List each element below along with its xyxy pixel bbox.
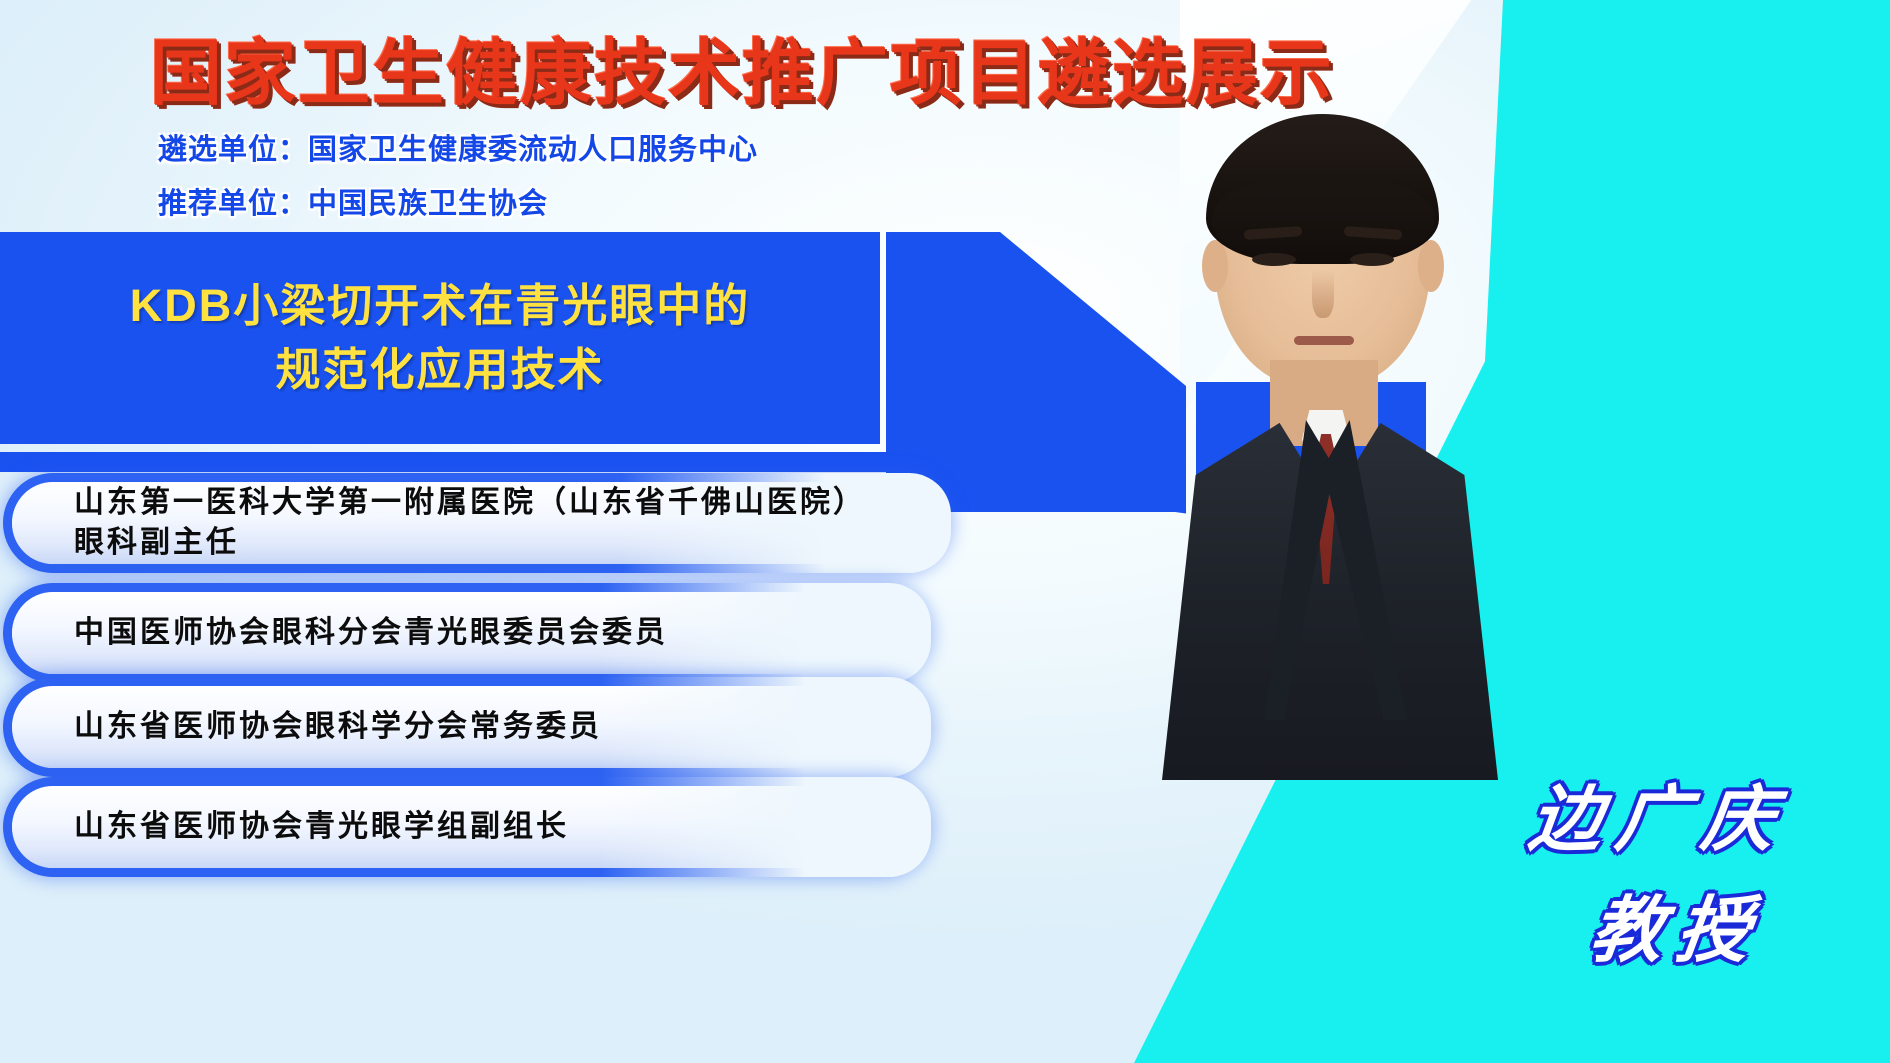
- credential-item: 山东省医师协会青光眼学组副组长: [12, 786, 922, 868]
- portrait-eye-left: [1252, 253, 1296, 266]
- portrait-ear-left: [1202, 240, 1228, 292]
- selection-unit-text: 遴选单位：国家卫生健康委流动人口服务中心: [158, 126, 758, 168]
- speaker-name-block: 边广庆 教授: [1430, 760, 1890, 1060]
- portrait-mouth: [1294, 336, 1354, 345]
- poster-root: 国家卫生健康技术推广项目遴选展示 遴选单位：国家卫生健康委流动人口服务中心 推荐…: [0, 0, 1890, 1063]
- speaker-title: 教授: [1586, 871, 1771, 976]
- project-title-line-2: 规范化应用技术: [275, 338, 604, 402]
- credential-text: 山东省医师协会眼科学分会常务委员: [12, 707, 622, 747]
- recommend-unit-text: 推荐单位：中国民族卫生协会: [158, 180, 548, 222]
- portrait-nose: [1312, 270, 1334, 318]
- project-title-line-1: KDB小梁切开术在青光眼中的: [130, 274, 751, 338]
- credential-pill-fade: [601, 777, 931, 877]
- speaker-portrait: [1120, 108, 1540, 780]
- credential-item: 中国医师协会眼科分会青光眼委员会委员: [12, 592, 922, 674]
- project-title: KDB小梁切开术在青光眼中的 规范化应用技术: [0, 232, 880, 444]
- portrait-ear-right: [1418, 240, 1444, 292]
- portrait-eye-right: [1350, 253, 1394, 266]
- speaker-name: 边广庆: [1525, 760, 1796, 865]
- credential-pill-fade: [601, 677, 931, 777]
- portrait-hair: [1206, 114, 1439, 264]
- credential-item: 山东省医师协会眼科学分会常务委员: [12, 686, 922, 768]
- credential-text: 山东省医师协会青光眼学组副组长: [12, 807, 589, 847]
- credential-text: 中国医师协会眼科分会青光眼委员会委员: [12, 613, 688, 653]
- credential-text: 山东第一医科大学第一附属医院（山东省千佛山医院） 眼科副主任: [12, 483, 886, 562]
- divider-stripe-left: [0, 452, 886, 472]
- page-title: 国家卫生健康技术推广项目遴选展示: [150, 14, 1470, 119]
- credential-item: 山东第一医科大学第一附属医院（山东省千佛山医院） 眼科副主任: [12, 482, 942, 564]
